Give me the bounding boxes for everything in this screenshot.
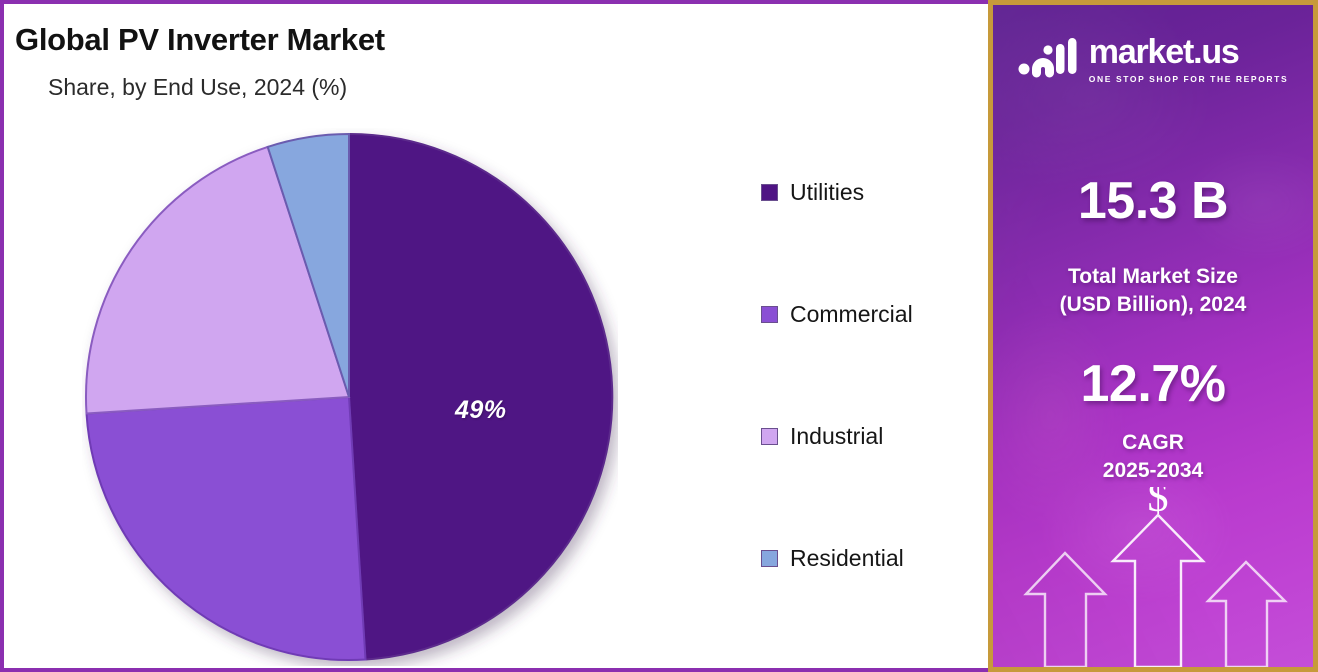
cagr-caption: CAGR 2025-2034	[993, 429, 1313, 484]
legend-item-label: Industrial	[790, 425, 883, 448]
legend-swatch-icon	[761, 550, 778, 567]
dollar-sign-icon: $	[1148, 487, 1169, 521]
pie-chart	[82, 128, 618, 666]
market-us-logo-icon	[1018, 36, 1080, 83]
brand-stats-panel: market.us ONE STOP SHOP FOR THE REPORTS …	[988, 0, 1318, 672]
pie-chart-svg	[82, 128, 618, 666]
legend-item-label: Residential	[790, 547, 904, 570]
legend-swatch-icon	[761, 184, 778, 201]
legend-swatch-icon	[761, 428, 778, 445]
market-size-caption-line1: Total Market Size	[993, 263, 1313, 291]
brand-logo[interactable]: market.us ONE STOP SHOP FOR THE REPORTS	[993, 35, 1313, 84]
arrow-up-icon	[1026, 553, 1105, 667]
legend-item-industrial[interactable]: Industrial	[761, 424, 981, 448]
logo-text: market.us ONE STOP SHOP FOR THE REPORTS	[1089, 35, 1288, 84]
cagr-value: 12.7%	[993, 358, 1313, 410]
market-size-value: 15.3 B	[993, 175, 1313, 227]
legend-swatch-icon	[761, 306, 778, 323]
logo-tagline: ONE STOP SHOP FOR THE REPORTS	[1089, 74, 1288, 84]
page-title: Global PV Inverter Market	[15, 22, 385, 58]
pie-data-label-utilities: 49%	[455, 396, 507, 425]
cagr-caption-line2: 2025-2034	[993, 457, 1313, 485]
chart-panel: Global PV Inverter Market Share, by End …	[0, 0, 988, 672]
growth-arrows-art: $	[993, 487, 1318, 667]
legend-item-utilities[interactable]: Utilities	[761, 180, 981, 204]
arrow-up-icon	[1113, 515, 1203, 667]
chart-legend: Utilities Commercial Industrial Resident…	[761, 180, 981, 570]
legend-item-label: Utilities	[790, 181, 864, 204]
pie-slice-commercial[interactable]	[87, 397, 366, 660]
arrow-up-icon	[1208, 562, 1285, 667]
logo-wordmark: market.us	[1089, 35, 1288, 69]
market-size-caption: Total Market Size (USD Billion), 2024	[993, 263, 1313, 318]
market-report-infographic: Global PV Inverter Market Share, by End …	[0, 0, 1318, 672]
cagr-caption-line1: CAGR	[993, 429, 1313, 457]
legend-item-commercial[interactable]: Commercial	[761, 302, 981, 326]
market-size-caption-line2: (USD Billion), 2024	[993, 291, 1313, 319]
legend-item-residential[interactable]: Residential	[761, 546, 981, 570]
legend-item-label: Commercial	[790, 303, 913, 326]
chart-subtitle: Share, by End Use, 2024 (%)	[48, 74, 347, 101]
